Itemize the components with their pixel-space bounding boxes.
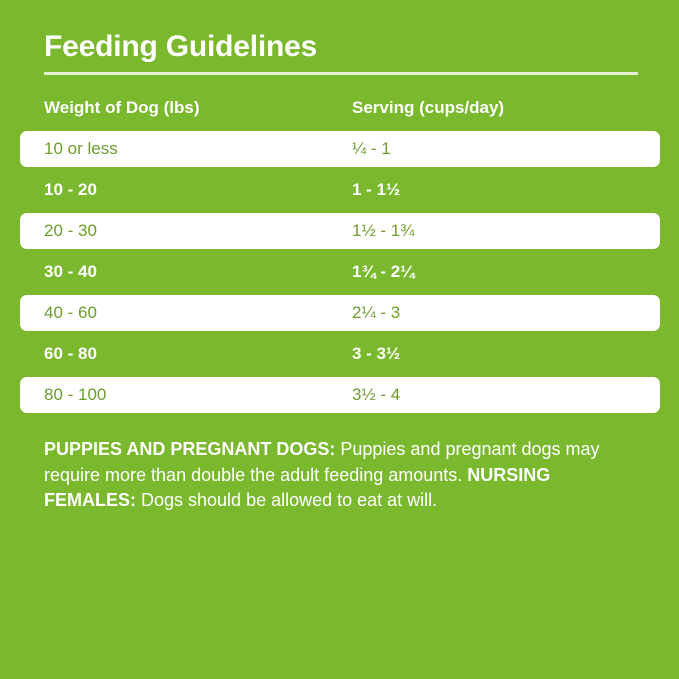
- column-header-serving: Serving (cups/day): [352, 96, 504, 120]
- title-divider: [44, 72, 638, 75]
- row-background: [20, 213, 660, 249]
- row-background: [20, 172, 660, 208]
- row-background: [20, 295, 660, 331]
- cell-serving: 3½ - 4: [352, 377, 400, 413]
- cell-weight: 30 - 40: [44, 254, 97, 290]
- cell-serving: 1 - 1½: [352, 172, 400, 208]
- cell-weight: 80 - 100: [44, 377, 106, 413]
- table-row: 60 - 80 3 - 3½: [0, 335, 679, 376]
- table-row: 40 - 60 2¼ - 3: [0, 294, 679, 335]
- page-title: Feeding Guidelines: [44, 30, 317, 64]
- cell-weight: 10 or less: [44, 131, 118, 167]
- cell-serving: 3 - 3½: [352, 336, 400, 372]
- table-row: 80 - 100 3½ - 4: [0, 376, 679, 417]
- feeding-guidelines-panel: Feeding Guidelines Weight of Dog (lbs) S…: [0, 0, 679, 679]
- table-row: 20 - 30 1½ - 1¾: [0, 212, 679, 253]
- feeding-note: PUPPIES AND PREGNANT DOGS: Puppies and p…: [44, 437, 644, 514]
- cell-weight: 60 - 80: [44, 336, 97, 372]
- cell-serving: 1¾ - 2¼: [352, 254, 414, 290]
- table-row: 10 - 20 1 - 1½: [0, 171, 679, 212]
- cell-weight: 20 - 30: [44, 213, 97, 249]
- cell-serving: 1½ - 1¾: [352, 213, 414, 249]
- row-background: [20, 336, 660, 372]
- cell-weight: 40 - 60: [44, 295, 97, 331]
- row-background: [20, 254, 660, 290]
- note-text-nursing: Dogs should be allowed to eat at will.: [136, 490, 437, 510]
- cell-weight: 10 - 20: [44, 172, 97, 208]
- table-header-row: Weight of Dog (lbs) Serving (cups/day): [0, 96, 679, 130]
- cell-serving: ¼ - 1: [352, 131, 391, 167]
- table-row: 10 or less ¼ - 1: [0, 130, 679, 171]
- table-row: 30 - 40 1¾ - 2¼: [0, 253, 679, 294]
- note-label-puppies: PUPPIES AND PREGNANT DOGS:: [44, 439, 335, 459]
- column-header-weight: Weight of Dog (lbs): [44, 96, 200, 120]
- cell-serving: 2¼ - 3: [352, 295, 400, 331]
- feeding-table: Weight of Dog (lbs) Serving (cups/day) 1…: [0, 96, 679, 417]
- row-background: [20, 377, 660, 413]
